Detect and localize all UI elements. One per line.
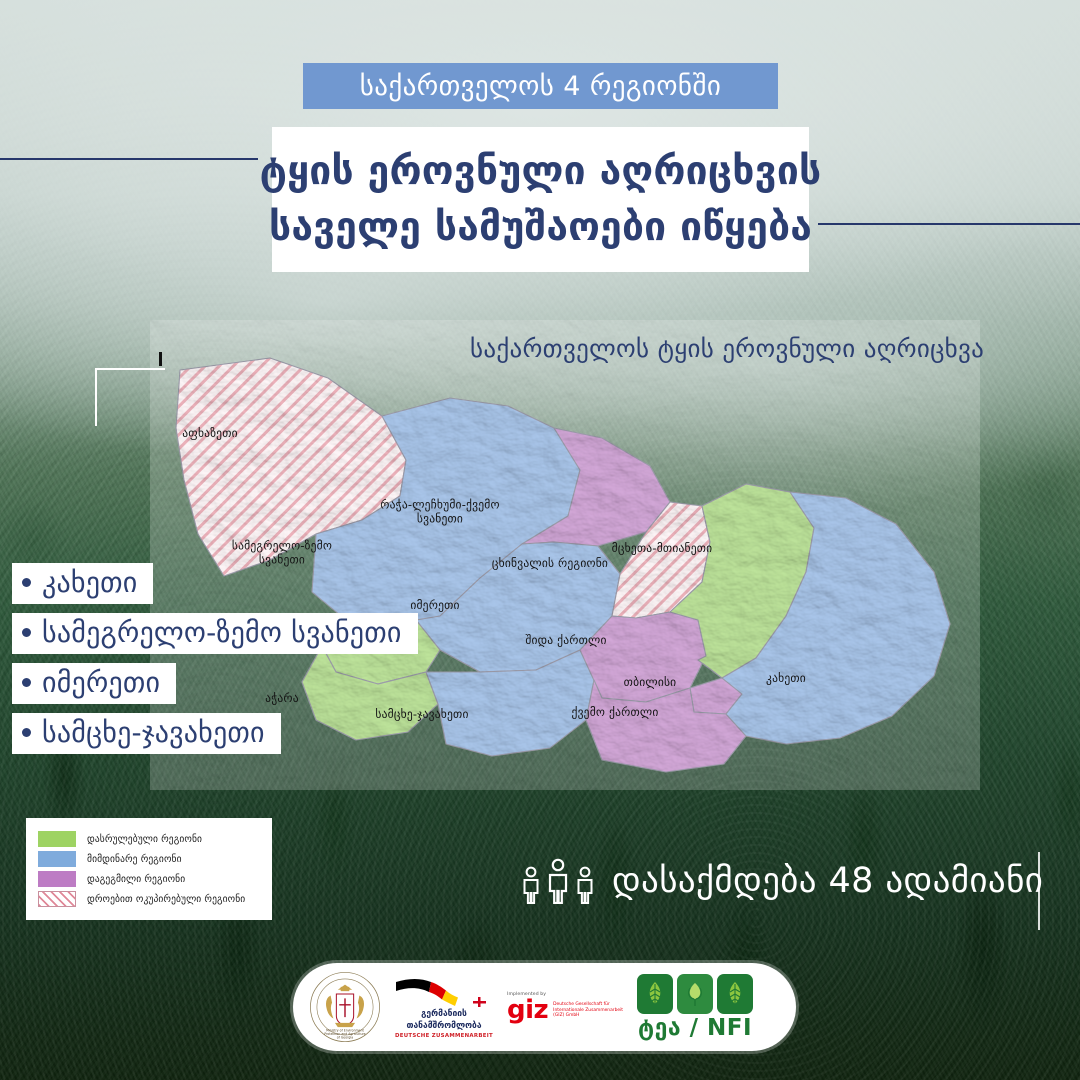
map-north-tick [159,352,162,366]
legend-label: დაგეგმილი რეგიონი [87,874,185,885]
region-label: იმერეთი [410,598,459,612]
region-label: რაჭა-ლეჩხუმი-ქვემო სვანეთი [380,498,500,527]
giz-logo: Implemented by giz Deutsche Gesellschaft… [507,992,623,1022]
legend-row: დროებით ოკუპირებული რეგიონი [38,891,262,907]
region-bullet-item: სამცხე-ჯავახეთი [12,713,281,754]
legend-swatch [38,851,76,867]
employment-stat-text: დასაქმდება 48 ადამიანი [612,861,1043,901]
legend-swatch [38,831,76,847]
german-georgian-flag-ribbon [394,975,494,1008]
svg-text:of Georgia: of Georgia [337,1036,353,1040]
german-line-1: გერმანიის [421,1009,467,1019]
map-legend: დასრულებული რეგიონიმიმდინარე რეგიონიდაგე… [26,818,272,920]
person-icon [545,858,571,904]
region-label: ქვემო ქართლი [571,705,658,719]
legend-label: მიმდინარე რეგიონი [87,854,182,865]
german-line-2: თანამშრომლობა [406,1021,481,1031]
bullet-dot-icon [22,628,31,637]
people-icon-group [520,858,596,904]
person-icon [574,866,596,904]
german-subtitle: DEUTSCHE ZUSAMMENARBEIT [395,1033,493,1039]
legend-label: დროებით ოკუპირებული რეგიონი [87,894,245,905]
region-bullet-label: სამცხე-ჯავახეთი [42,716,265,749]
legend-row: დასრულებული რეგიონი [38,831,262,847]
nfi-label: ტეა / NFI [637,1015,753,1041]
region-bullet-item: კახეთი [12,563,153,604]
employment-stat: დასაქმდება 48 ადამიანი [520,858,1043,904]
region-label: კახეთი [766,671,806,685]
region-label: ცხინვალის რეგიონი [490,556,610,570]
legend-row: მიმდინარე რეგიონი [38,851,262,867]
leaf-icon [637,974,673,1014]
german-cooperation-logo: გერმანიის თანამშრომლობა DEUTSCHE ZUSAMME… [391,975,497,1039]
ministry-seal-logo: Ministry of Environment Protection and A… [309,971,381,1043]
header-rule-right [818,223,1080,225]
page-title-line-2: საველე სამუშაოები იწყება [269,200,812,255]
bullet-dot-icon [22,678,31,687]
person-icon [520,866,542,904]
region-label: თბილისი [624,675,677,689]
highlighted-regions-list: კახეთისამეგრელო-ზემო სვანეთიიმერეთისამცხ… [12,563,418,763]
tree-icon [677,974,713,1014]
header-rule-left [0,158,258,160]
nfi-logo: ტეა / NFI [637,974,753,1041]
region-bullet-label: იმერეთი [42,666,160,699]
region-bullet-item: სამეგრელო-ზემო სვანეთი [12,613,418,654]
region-label: აფხაზეთი [182,426,238,440]
region-label: შიდა ქართლი [525,633,606,647]
region-bullet-label: სამეგრელო-ზემო სვანეთი [42,616,402,649]
page-title-line-1: ტყის ეროვნული აღრიცხვის [260,144,822,199]
giz-subtitle: Deutsche Gesellschaft für Internationale… [553,1002,623,1020]
page-title: ტყის ეროვნული აღრიცხვის საველე სამუშაოებ… [272,127,809,272]
legend-swatch [38,891,76,907]
giz-wordmark: giz [507,999,548,1022]
map-heading: საქართველოს ტყის ეროვნული აღრიცხვა [470,334,984,363]
legend-swatch [38,871,76,887]
region-bullet-item: იმერეთი [12,663,176,704]
region-bullet-label: კახეთი [42,566,137,599]
kicker-banner: საქართველოს 4 რეგიონში [303,63,778,109]
region-label: მცხეთა-მთიანეთი [612,541,713,555]
stat-divider-rule [1038,852,1040,930]
legend-row: დაგეგმილი რეგიონი [38,871,262,887]
map-frame-corner [95,368,165,426]
leaf-icon [717,974,753,1014]
partner-logo-bar: Ministry of Environment Protection and A… [293,963,796,1051]
bullet-dot-icon [22,578,31,587]
bullet-dot-icon [22,728,31,737]
legend-label: დასრულებული რეგიონი [87,834,202,845]
